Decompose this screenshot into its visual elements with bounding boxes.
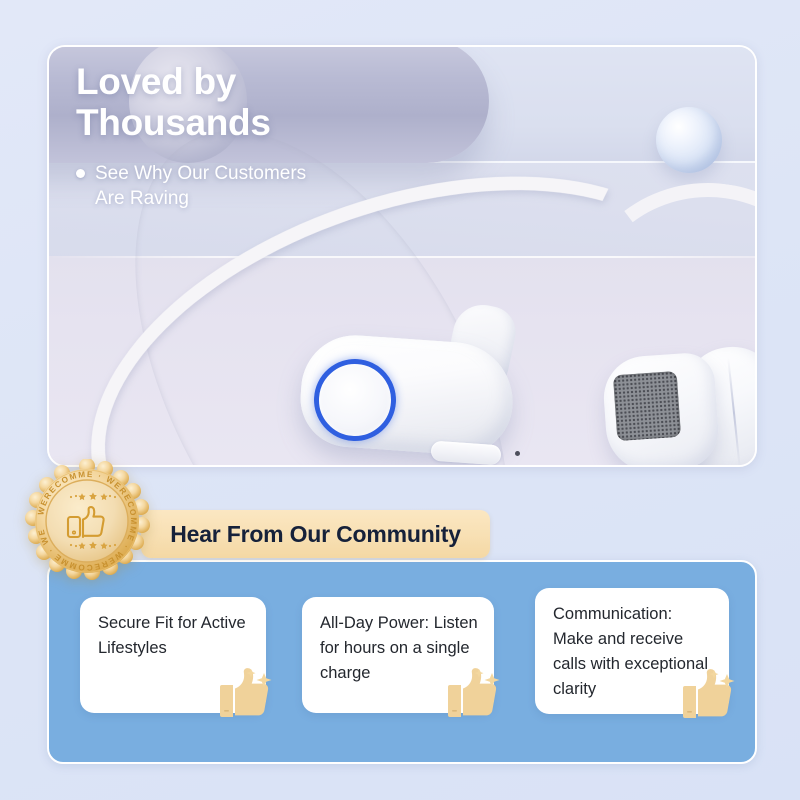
benefit-card-text: Secure Fit for Active Lifestyles <box>98 611 252 661</box>
bullet-point-icon <box>76 169 85 178</box>
hero-subtitle: See Why Our Customers Are Raving <box>76 161 306 212</box>
benefit-card-all-day-power[interactable]: All-Day Power: Listen for hours on a sin… <box>302 597 494 713</box>
hero-title: Loved by Thousands <box>76 61 306 143</box>
recommended-badge: WERECOMME · WERECOMME · WERECOMME · WE R… <box>16 459 158 583</box>
benefit-card-text: All-Day Power: Listen for hours on a sin… <box>320 611 480 686</box>
hero-panel: Loved by Thousands See Why Our Customers… <box>47 45 757 467</box>
hero-title-line-2: Thousands <box>76 102 306 143</box>
badge-inner-disc <box>46 480 128 562</box>
benefit-card-text: Communication: Make and receive calls wi… <box>553 602 715 702</box>
hero-subtitle-text: See Why Our Customers Are Raving <box>95 161 306 212</box>
hero-subtitle-line-2: Are Raving <box>95 186 306 211</box>
benefit-card-secure-fit[interactable]: Secure Fit for Active Lifestyles <box>80 597 266 713</box>
hero-title-line-1: Loved by <box>76 61 306 102</box>
hero-subtitle-line-1: See Why Our Customers <box>95 161 306 186</box>
community-banner: Hear From Our Community <box>141 510 490 558</box>
infographic-stage: Loved by Thousands See Why Our Customers… <box>0 0 800 800</box>
hero-copy-block: Loved by Thousands See Why Our Customers… <box>76 61 306 212</box>
microphone-hole <box>515 451 520 456</box>
benefit-card-communication[interactable]: Communication: Make and receive calls wi… <box>535 588 729 714</box>
speaker-grille-icon <box>613 371 681 441</box>
decorative-sphere <box>656 107 722 173</box>
community-banner-label: Hear From Our Community <box>170 521 461 548</box>
